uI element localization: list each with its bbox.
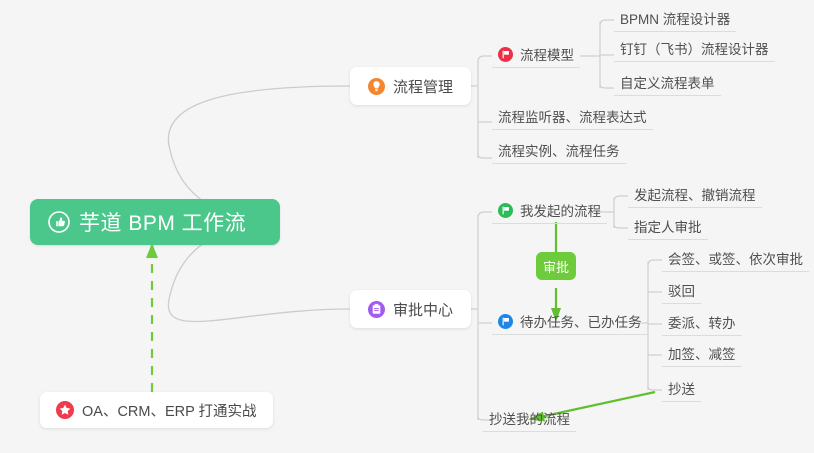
wire-init-to-assignee bbox=[614, 225, 628, 228]
node-dingtalk-feishu-designer-label: 钉钉（飞书）流程设计器 bbox=[620, 38, 769, 58]
node-process-management[interactable]: 流程管理 bbox=[350, 67, 471, 105]
node-custom-process-form[interactable]: 自定义流程表单 bbox=[614, 72, 721, 96]
node-approval-center-label: 审批中心 bbox=[393, 299, 453, 320]
flag-icon-green bbox=[498, 203, 513, 218]
wire-todo-to-countersign bbox=[648, 260, 662, 265]
node-listener-expression[interactable]: 流程监听器、流程表达式 bbox=[492, 106, 653, 130]
wire-pm-to-instance bbox=[478, 155, 492, 158]
node-assignee-approval-label: 指定人审批 bbox=[634, 216, 702, 236]
flag-icon-red bbox=[498, 47, 513, 62]
root-label: 芋道 BPM 工作流 bbox=[79, 207, 246, 237]
node-todo-done-tasks[interactable]: 待办任务、已办任务 bbox=[492, 311, 648, 335]
node-cc-label: 抄送 bbox=[668, 378, 695, 398]
node-cc-to-me[interactable]: 抄送我的流程 bbox=[483, 408, 576, 432]
node-custom-process-form-label: 自定义流程表单 bbox=[620, 72, 715, 92]
wire-todo-to-cc bbox=[648, 387, 662, 390]
node-integration-note-label: OA、CRM、ERP 打通实战 bbox=[82, 400, 257, 421]
node-instance-task-label: 流程实例、流程任务 bbox=[498, 140, 620, 160]
node-reject-label: 驳回 bbox=[668, 280, 695, 300]
approval-tag-node[interactable]: 审批 bbox=[536, 252, 576, 280]
wire-ac-to-initiated bbox=[478, 212, 492, 218]
node-dingtalk-feishu-designer[interactable]: 钉钉（飞书）流程设计器 bbox=[614, 38, 775, 62]
node-countersign-label: 会签、或签、依次审批 bbox=[668, 248, 803, 268]
node-bpmn-designer[interactable]: BPMN 流程设计器 bbox=[614, 8, 736, 32]
node-assignee-approval[interactable]: 指定人审批 bbox=[628, 216, 708, 240]
node-approval-center[interactable]: 审批中心 bbox=[350, 290, 471, 328]
node-start-cancel-process[interactable]: 发起流程、撤销流程 bbox=[628, 184, 762, 208]
node-listener-expression-label: 流程监听器、流程表达式 bbox=[498, 106, 647, 126]
node-bpmn-designer-label: BPMN 流程设计器 bbox=[620, 8, 730, 28]
flag-icon-blue bbox=[498, 314, 513, 329]
node-reject[interactable]: 驳回 bbox=[662, 280, 701, 304]
node-add-remove-sign-label: 加签、减签 bbox=[668, 343, 736, 363]
wire-init-to-start bbox=[614, 196, 628, 201]
node-cc-to-me-label: 抄送我的流程 bbox=[489, 408, 570, 428]
node-process-model-label: 流程模型 bbox=[520, 44, 574, 64]
star-icon bbox=[56, 401, 74, 419]
node-todo-done-tasks-label: 待办任务、已办任务 bbox=[520, 311, 642, 331]
node-delegate-transfer[interactable]: 委派、转办 bbox=[662, 312, 742, 336]
root-node[interactable]: 芋道 BPM 工作流 bbox=[30, 199, 280, 245]
mindmap-canvas: 芋道 BPM 工作流 流程管理 流程模型 BPMN 流程设计器 钉钉（飞书）流程 bbox=[0, 0, 814, 453]
node-process-management-label: 流程管理 bbox=[393, 76, 453, 97]
node-my-initiated[interactable]: 我发起的流程 bbox=[492, 200, 607, 224]
node-delegate-transfer-label: 委派、转办 bbox=[668, 312, 736, 332]
node-start-cancel-process-label: 发起流程、撤销流程 bbox=[634, 184, 756, 204]
wire-pm-to-model bbox=[478, 56, 492, 62]
node-add-remove-sign[interactable]: 加签、减签 bbox=[662, 343, 742, 367]
node-countersign[interactable]: 会签、或签、依次审批 bbox=[662, 248, 809, 272]
node-integration-note[interactable]: OA、CRM、ERP 打通实战 bbox=[40, 392, 273, 428]
node-instance-task[interactable]: 流程实例、流程任务 bbox=[492, 140, 626, 164]
node-process-model[interactable]: 流程模型 bbox=[492, 44, 580, 68]
approval-tag-label: 审批 bbox=[543, 257, 569, 276]
wire-model-to-customform bbox=[600, 85, 614, 88]
integration-dashed-arrow bbox=[146, 243, 158, 392]
clipboard-icon bbox=[368, 301, 385, 318]
thumbs-up-icon bbox=[48, 211, 70, 233]
lightbulb-icon bbox=[368, 78, 385, 95]
wire-model-to-bpmn bbox=[600, 20, 614, 25]
node-my-initiated-label: 我发起的流程 bbox=[520, 200, 601, 220]
node-cc[interactable]: 抄送 bbox=[662, 378, 701, 402]
